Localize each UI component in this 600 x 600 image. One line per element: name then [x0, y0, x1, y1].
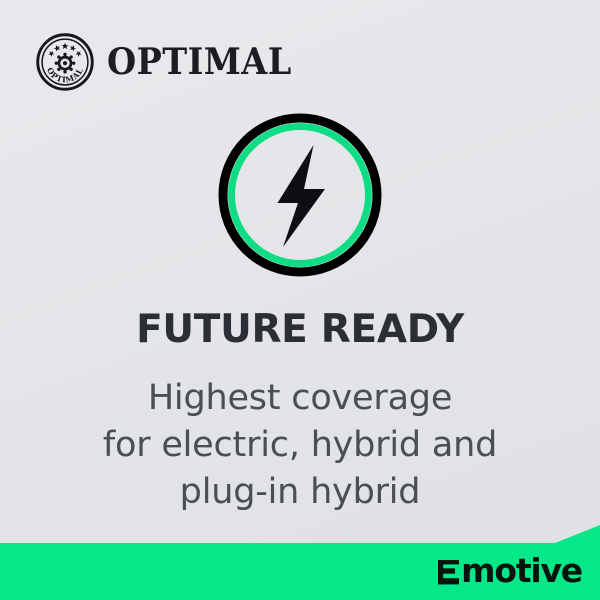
optimal-gear-badge-icon: OPTIMAL	[36, 33, 94, 91]
description-line-1: Highest coverage	[0, 375, 600, 422]
lightning-bolt-icon	[278, 145, 326, 247]
promo-card: OPTIMAL OPTIMAL FUTURE READY Highest cov…	[0, 0, 600, 600]
emotive-e-bars-icon	[438, 560, 459, 585]
footer-bar: motive	[0, 525, 600, 600]
brand-lockup: OPTIMAL OPTIMAL	[36, 33, 306, 91]
page-title: FUTURE READY	[0, 310, 600, 349]
description-text: Highest coverage for electric, hybrid an…	[0, 375, 600, 516]
description-line-3: plug-in hybrid	[0, 469, 600, 516]
lightning-bolt-in-circle-icon	[217, 112, 383, 278]
brand-wordmark: OPTIMAL	[107, 44, 292, 80]
description-line-2: for electric, hybrid and	[0, 422, 600, 469]
emotive-logo: motive	[438, 553, 582, 586]
emotive-logo-text: motive	[461, 554, 582, 587]
